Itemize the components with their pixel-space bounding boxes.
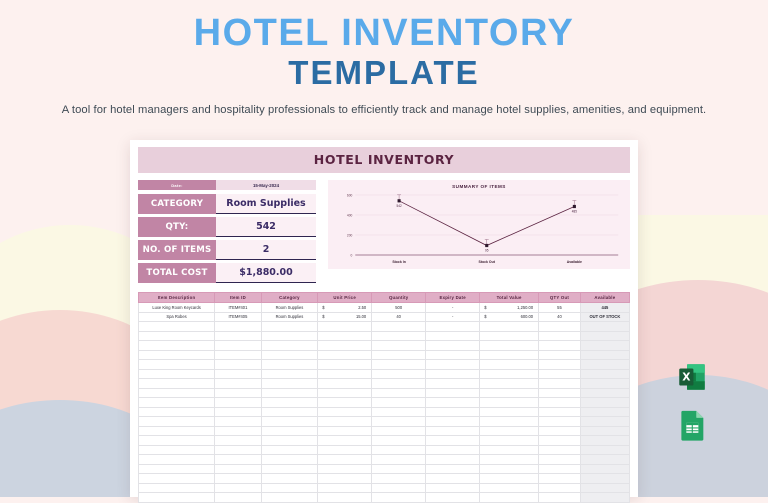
cell-empty[interactable] — [215, 493, 262, 503]
date-value[interactable]: 15-May-2024 — [216, 180, 316, 190]
cell-empty[interactable] — [139, 445, 215, 455]
cell-empty[interactable] — [139, 483, 215, 493]
sheets-icon[interactable] — [675, 408, 709, 442]
cell-empty[interactable] — [261, 350, 317, 360]
cell-empty[interactable] — [480, 493, 539, 503]
cell-empty[interactable] — [539, 464, 581, 474]
cell-empty[interactable] — [372, 341, 426, 351]
cell-empty[interactable] — [539, 426, 581, 436]
cell-empty[interactable] — [372, 379, 426, 389]
date-row: Date: 15-May-2024 — [138, 180, 316, 190]
cell-empty[interactable] — [480, 483, 539, 493]
cell-empty[interactable] — [261, 426, 317, 436]
cell-empty[interactable] — [318, 350, 372, 360]
cell-empty[interactable] — [580, 379, 629, 389]
cell-empty[interactable] — [372, 350, 426, 360]
cell-empty[interactable] — [539, 360, 581, 370]
page-title-line2: TEMPLATE — [0, 52, 768, 93]
table-row-empty[interactable] — [139, 417, 630, 427]
cell-empty[interactable] — [215, 426, 262, 436]
cell-empty[interactable] — [426, 455, 480, 465]
table-row-empty[interactable] — [139, 464, 630, 474]
table-body: Luxe King Room KeycardsITEM#401Room Supp… — [139, 303, 630, 503]
cell-empty[interactable] — [215, 398, 262, 408]
cell-empty[interactable] — [480, 331, 539, 341]
cell-empty[interactable] — [215, 331, 262, 341]
cell-empty[interactable] — [318, 388, 372, 398]
cell-empty[interactable] — [318, 398, 372, 408]
cell-empty[interactable] — [539, 369, 581, 379]
currency-symbol: $ — [484, 305, 486, 310]
cell-empty[interactable] — [215, 388, 262, 398]
cell-empty[interactable] — [580, 369, 629, 379]
cell-empty[interactable] — [539, 398, 581, 408]
cell-empty[interactable] — [580, 350, 629, 360]
summary-panel: Date: 15-May-2024 CATEGORY Room Supplies… — [138, 180, 316, 286]
chart-data-label: 542 — [397, 204, 402, 208]
cell-available[interactable]: 445 — [580, 303, 629, 313]
table-row-empty[interactable] — [139, 474, 630, 484]
cell-empty[interactable] — [215, 455, 262, 465]
chart-x-tick-label: Stock In — [392, 260, 406, 264]
cell-empty[interactable] — [139, 455, 215, 465]
svg-text:X: X — [682, 371, 690, 384]
cell-empty[interactable] — [426, 436, 480, 446]
summary-label-category: CATEGORY — [138, 194, 216, 214]
cell-empty[interactable] — [580, 483, 629, 493]
table-row-empty[interactable] — [139, 493, 630, 503]
cell-empty[interactable] — [372, 426, 426, 436]
cell-empty[interactable] — [215, 379, 262, 389]
cell-empty[interactable] — [215, 417, 262, 427]
cell-empty[interactable] — [480, 360, 539, 370]
cell-empty[interactable] — [580, 464, 629, 474]
cell-empty[interactable] — [426, 417, 480, 427]
cell-empty[interactable] — [139, 369, 215, 379]
chart-y-tick-label: 0 — [351, 254, 353, 258]
cell-empty[interactable] — [261, 360, 317, 370]
cell-empty[interactable] — [261, 398, 317, 408]
cell-empty[interactable] — [426, 464, 480, 474]
cell-quantity[interactable]: 40 — [372, 312, 426, 322]
cell-empty[interactable] — [539, 474, 581, 484]
cell-empty[interactable] — [426, 379, 480, 389]
cell-empty[interactable] — [480, 436, 539, 446]
cell-empty[interactable] — [426, 341, 480, 351]
summary-label-qty: QTY: — [138, 217, 216, 237]
cell-empty[interactable] — [426, 322, 480, 332]
table-column-header: Item Description — [139, 293, 215, 303]
table-row-empty[interactable] — [139, 426, 630, 436]
summary-label-no-of-items: NO. OF ITEMS — [138, 240, 216, 260]
cell-empty[interactable] — [426, 350, 480, 360]
table-column-header: Item ID — [215, 293, 262, 303]
cell-empty[interactable] — [318, 464, 372, 474]
cell-empty[interactable] — [318, 369, 372, 379]
cell-empty[interactable] — [318, 417, 372, 427]
table-row-empty[interactable] — [139, 455, 630, 465]
table-row-empty[interactable] — [139, 436, 630, 446]
cell-empty[interactable] — [539, 417, 581, 427]
cell-empty[interactable] — [580, 417, 629, 427]
cell-empty[interactable] — [372, 417, 426, 427]
cell-empty[interactable] — [261, 464, 317, 474]
cell-item-id[interactable]: ITEM#405 — [215, 312, 262, 322]
cell-empty[interactable] — [215, 445, 262, 455]
cell-empty[interactable] — [318, 445, 372, 455]
summary-label-total-cost: TOTAL COST — [138, 263, 216, 283]
cell-empty[interactable] — [372, 331, 426, 341]
cell-empty[interactable] — [539, 331, 581, 341]
cell-empty[interactable] — [215, 483, 262, 493]
summary-row-no-of-items: NO. OF ITEMS 2 — [138, 240, 316, 260]
cell-empty[interactable] — [539, 493, 581, 503]
cell-empty[interactable] — [426, 493, 480, 503]
cell-empty[interactable] — [372, 445, 426, 455]
cell-empty[interactable] — [539, 455, 581, 465]
cell-empty[interactable] — [539, 350, 581, 360]
excel-icon[interactable]: X — [675, 360, 709, 394]
summary-and-chart-section: Date: 15-May-2024 CATEGORY Room Supplies… — [138, 180, 630, 286]
cell-empty[interactable] — [139, 493, 215, 503]
summary-value-total-cost[interactable]: $1,880.00 — [216, 263, 316, 283]
cell-empty[interactable] — [580, 445, 629, 455]
chart-y-tick-label: 400 — [347, 214, 353, 218]
cell-empty[interactable] — [480, 445, 539, 455]
page-subtitle: A tool for hotel managers and hospitalit… — [0, 102, 768, 118]
cell-empty[interactable] — [480, 388, 539, 398]
cell-empty[interactable] — [215, 322, 262, 332]
table-row-empty[interactable] — [139, 398, 630, 408]
table-row-empty[interactable] — [139, 331, 630, 341]
cell-available[interactable]: OUT OF STOCK — [580, 312, 629, 322]
document-title: HOTEL INVENTORY — [138, 147, 630, 173]
cell-empty[interactable] — [318, 474, 372, 484]
cell-empty[interactable] — [539, 436, 581, 446]
cell-empty[interactable] — [372, 474, 426, 484]
cell-empty[interactable] — [215, 407, 262, 417]
chart-canvas: 0200400600542Stock In95Stock Out485Avail… — [334, 191, 624, 267]
cell-empty[interactable] — [261, 407, 317, 417]
cell-empty[interactable] — [318, 436, 372, 446]
cell-empty[interactable] — [426, 388, 480, 398]
cell-empty[interactable] — [139, 331, 215, 341]
cell-empty[interactable] — [426, 483, 480, 493]
table-row[interactable]: Spa RobesITEM#405Room Supplies$15.0040-$… — [139, 312, 630, 322]
cell-empty[interactable] — [539, 483, 581, 493]
cell-empty[interactable] — [580, 322, 629, 332]
table-column-header: Quantity — [372, 293, 426, 303]
cell-empty[interactable] — [580, 436, 629, 446]
currency-symbol: $ — [322, 305, 324, 310]
cell-empty[interactable] — [480, 407, 539, 417]
cell-empty[interactable] — [480, 474, 539, 484]
cell-empty[interactable] — [480, 350, 539, 360]
table-row[interactable]: Luxe King Room KeycardsITEM#401Room Supp… — [139, 303, 630, 313]
cell-empty[interactable] — [372, 360, 426, 370]
cell-empty[interactable] — [539, 322, 581, 332]
cell-expiry-date[interactable]: - — [426, 312, 480, 322]
table-header-row: Item DescriptionItem IDCategoryUnit Pric… — [139, 293, 630, 303]
cell-empty[interactable] — [139, 426, 215, 436]
cell-empty[interactable] — [580, 398, 629, 408]
summary-row-qty: QTY: 542 — [138, 217, 316, 237]
cell-empty[interactable] — [261, 341, 317, 351]
cell-empty[interactable] — [539, 407, 581, 417]
cell-item-description[interactable]: Luxe King Room Keycards — [139, 303, 215, 313]
cell-empty[interactable] — [480, 417, 539, 427]
table-row-empty[interactable] — [139, 483, 630, 493]
page-header: HOTEL INVENTORY TEMPLATE A tool for hote… — [0, 0, 768, 118]
cell-empty[interactable] — [261, 483, 317, 493]
cell-empty[interactable] — [139, 417, 215, 427]
cell-empty[interactable] — [261, 436, 317, 446]
cell-empty[interactable] — [372, 388, 426, 398]
cell-unit-price[interactable]: $2.50 — [318, 303, 372, 313]
cell-empty[interactable] — [580, 474, 629, 484]
cell-empty[interactable] — [318, 493, 372, 503]
cell-empty[interactable] — [580, 407, 629, 417]
table-column-header: Category — [261, 293, 317, 303]
cell-empty[interactable] — [139, 398, 215, 408]
cell-empty[interactable] — [426, 474, 480, 484]
summary-value-no-of-items[interactable]: 2 — [216, 240, 316, 260]
table-column-header: Unit Price — [318, 293, 372, 303]
cell-empty[interactable] — [139, 464, 215, 474]
cell-empty[interactable] — [215, 436, 262, 446]
table-column-header: Available — [580, 293, 629, 303]
cell-item-id[interactable]: ITEM#401 — [215, 303, 262, 313]
cell-empty[interactable] — [261, 455, 317, 465]
summary-chart: SUMMARY OF ITEMS 0200400600542Stock In95… — [328, 180, 630, 269]
cell-empty[interactable] — [372, 436, 426, 446]
cell-empty[interactable] — [480, 341, 539, 351]
cell-total-value[interactable]: $600.00 — [480, 312, 539, 322]
cell-empty[interactable] — [139, 379, 215, 389]
cell-empty[interactable] — [318, 341, 372, 351]
table-row-empty[interactable] — [139, 360, 630, 370]
date-label: Date: — [138, 180, 216, 190]
cell-empty[interactable] — [539, 445, 581, 455]
cell-expiry-date[interactable]: - — [426, 303, 480, 313]
cell-empty[interactable] — [139, 474, 215, 484]
table-row-empty[interactable] — [139, 388, 630, 398]
cell-empty[interactable] — [215, 341, 262, 351]
chart-y-tick-label: 200 — [347, 234, 353, 238]
cell-empty[interactable] — [580, 341, 629, 351]
cell-empty[interactable] — [539, 341, 581, 351]
chart-x-tick-label: Stock Out — [479, 260, 496, 264]
cell-empty[interactable] — [580, 493, 629, 503]
cell-empty[interactable] — [480, 398, 539, 408]
cell-empty[interactable] — [426, 426, 480, 436]
cell-empty[interactable] — [139, 322, 215, 332]
summary-row-category: CATEGORY Room Supplies — [138, 194, 316, 214]
cell-empty[interactable] — [139, 350, 215, 360]
file-format-icons: X — [675, 360, 709, 456]
cell-empty[interactable] — [480, 322, 539, 332]
cell-empty[interactable] — [261, 322, 317, 332]
cell-empty[interactable] — [215, 360, 262, 370]
cell-empty[interactable] — [261, 331, 317, 341]
table-row-empty[interactable] — [139, 322, 630, 332]
spreadsheet-document: HOTEL INVENTORY Date: 15-May-2024 CATEGO… — [130, 140, 638, 497]
cell-empty[interactable] — [261, 417, 317, 427]
cell-empty[interactable] — [372, 398, 426, 408]
summary-value-category[interactable]: Room Supplies — [216, 194, 316, 214]
cell-empty[interactable] — [372, 455, 426, 465]
cell-empty[interactable] — [426, 360, 480, 370]
page-title-line1: HOTEL INVENTORY — [0, 14, 768, 52]
cell-empty[interactable] — [139, 436, 215, 446]
cell-empty[interactable] — [215, 474, 262, 484]
table-row-empty[interactable] — [139, 407, 630, 417]
cell-empty[interactable] — [215, 350, 262, 360]
cell-empty[interactable] — [372, 407, 426, 417]
cell-category[interactable]: Room Supplies — [261, 303, 317, 313]
cell-empty[interactable] — [261, 379, 317, 389]
cell-empty[interactable] — [426, 331, 480, 341]
cell-empty[interactable] — [139, 407, 215, 417]
cell-empty[interactable] — [372, 369, 426, 379]
cell-empty[interactable] — [318, 360, 372, 370]
cell-empty[interactable] — [215, 464, 262, 474]
cell-empty[interactable] — [318, 426, 372, 436]
cell-empty[interactable] — [261, 474, 317, 484]
cell-empty[interactable] — [318, 455, 372, 465]
summary-row-total-cost: TOTAL COST $1,880.00 — [138, 263, 316, 283]
currency-symbol: $ — [484, 314, 486, 319]
cell-empty[interactable] — [318, 407, 372, 417]
chart-x-tick-label: Available — [567, 260, 582, 264]
cell-empty[interactable] — [580, 455, 629, 465]
cell-empty[interactable] — [261, 445, 317, 455]
table-column-header: Expiry Date — [426, 293, 480, 303]
cell-empty[interactable] — [426, 369, 480, 379]
chart-title: SUMMARY OF ITEMS — [334, 184, 624, 189]
cell-empty[interactable] — [539, 388, 581, 398]
table-row-empty[interactable] — [139, 379, 630, 389]
cell-empty[interactable] — [261, 388, 317, 398]
cell-empty[interactable] — [139, 341, 215, 351]
cell-quantity[interactable]: 500 — [372, 303, 426, 313]
cell-empty[interactable] — [539, 379, 581, 389]
cell-category[interactable]: Room Supplies — [261, 312, 317, 322]
chart-data-label: 485 — [572, 209, 577, 213]
cell-empty[interactable] — [139, 388, 215, 398]
cell-empty[interactable] — [139, 360, 215, 370]
cell-qty-out[interactable]: 40 — [539, 312, 581, 322]
summary-value-qty[interactable]: 542 — [216, 217, 316, 237]
cell-total-value[interactable]: $1,250.00 — [480, 303, 539, 313]
cell-empty[interactable] — [480, 455, 539, 465]
table-row-empty[interactable] — [139, 341, 630, 351]
cell-empty[interactable] — [261, 493, 317, 503]
cell-empty[interactable] — [426, 407, 480, 417]
inventory-table-wrapper: Item DescriptionItem IDCategoryUnit Pric… — [138, 292, 630, 503]
cell-empty[interactable] — [318, 331, 372, 341]
cell-empty[interactable] — [261, 369, 317, 379]
cell-empty[interactable] — [480, 426, 539, 436]
cell-empty[interactable] — [580, 426, 629, 436]
cell-empty[interactable] — [480, 369, 539, 379]
chart-data-label: 95 — [485, 248, 489, 252]
table-column-header: Total Value — [480, 293, 539, 303]
chart-y-tick-label: 600 — [347, 194, 353, 198]
cell-empty[interactable] — [372, 493, 426, 503]
cell-empty[interactable] — [372, 483, 426, 493]
inventory-table: Item DescriptionItem IDCategoryUnit Pric… — [138, 292, 630, 503]
cell-empty[interactable] — [372, 464, 426, 474]
cell-empty[interactable] — [580, 331, 629, 341]
cell-empty[interactable] — [426, 398, 480, 408]
cell-unit-price[interactable]: $15.00 — [318, 312, 372, 322]
currency-symbol: $ — [322, 314, 324, 319]
table-row-empty[interactable] — [139, 369, 630, 379]
cell-empty[interactable] — [580, 360, 629, 370]
cell-empty[interactable] — [215, 369, 262, 379]
cell-empty[interactable] — [580, 388, 629, 398]
table-row-empty[interactable] — [139, 445, 630, 455]
cell-empty[interactable] — [480, 464, 539, 474]
cell-qty-out[interactable]: 55 — [539, 303, 581, 313]
table-column-header: QTY Out — [539, 293, 581, 303]
cell-empty[interactable] — [318, 322, 372, 332]
table-row-empty[interactable] — [139, 350, 630, 360]
cell-empty[interactable] — [426, 445, 480, 455]
cell-empty[interactable] — [318, 379, 372, 389]
cell-empty[interactable] — [372, 322, 426, 332]
cell-item-description[interactable]: Spa Robes — [139, 312, 215, 322]
cell-empty[interactable] — [480, 379, 539, 389]
cell-empty[interactable] — [318, 483, 372, 493]
